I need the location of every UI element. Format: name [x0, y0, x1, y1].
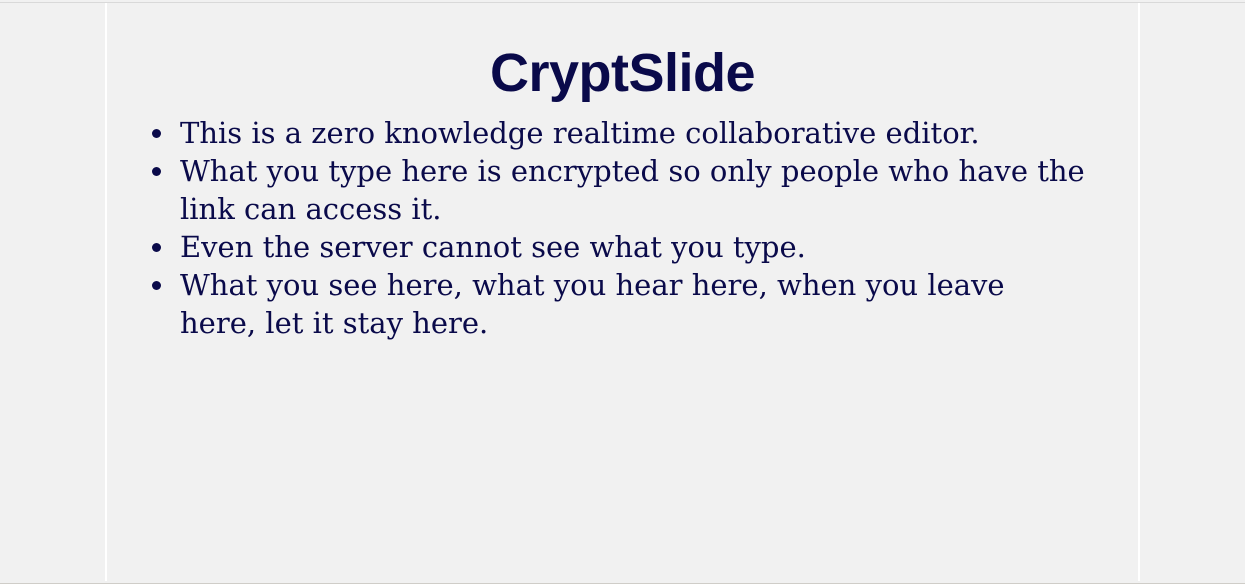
bullet-marker-icon — [152, 281, 161, 290]
bullet-text: This is a zero knowledge realtime collab… — [180, 114, 1085, 152]
bullet-text: Even the server cannot see what you type… — [180, 228, 1085, 266]
bullet-text: What you type here is encrypted so only … — [180, 152, 1085, 228]
list-item: What you type here is encrypted so only … — [107, 152, 1138, 228]
list-item: This is a zero knowledge realtime collab… — [107, 114, 1138, 152]
slide-bullet-list: This is a zero knowledge realtime collab… — [107, 114, 1138, 342]
bullet-marker-icon — [152, 167, 161, 176]
bullet-marker-icon — [152, 243, 161, 252]
slide-title: CryptSlide — [107, 3, 1138, 101]
list-item: What you see here, what you hear here, w… — [107, 266, 1138, 342]
slide-panel: CryptSlide This is a zero knowledge real… — [105, 3, 1140, 581]
bullet-marker-icon — [152, 129, 161, 138]
bullet-text: What you see here, what you hear here, w… — [180, 266, 1085, 342]
list-item: Even the server cannot see what you type… — [107, 228, 1138, 266]
